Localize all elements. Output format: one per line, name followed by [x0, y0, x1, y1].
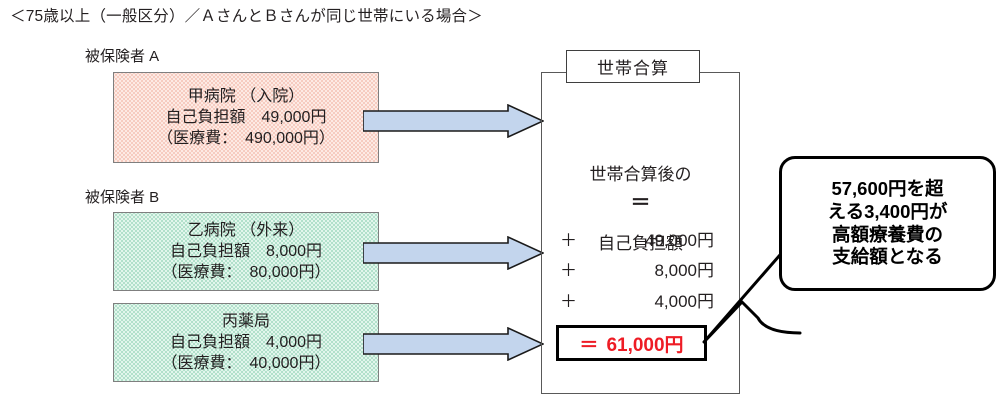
sum-amount-1: 49,000円 — [594, 226, 714, 251]
household-total-box: ＝ 61,000円 — [556, 325, 707, 361]
household-aggregate-tab: 世帯合算 — [566, 50, 700, 83]
callout-line-2: える3,400円が — [828, 201, 948, 224]
flow-arrow-1 — [363, 104, 544, 138]
provider-name-otsu: 乙病院 （外来） — [188, 220, 304, 241]
provider-selfpay-hei: 自己負担額 4,000円 — [170, 332, 322, 353]
provider-selfpay-otsu: 自己負担額 8,000円 — [170, 241, 322, 262]
household-heading-line1: 世帯合算後の — [541, 164, 740, 187]
callout-balloon: 57,600円を超 える3,400円が 高額療養費の 支給額となる — [779, 156, 996, 291]
insured-a-label: 被保険者 A — [85, 45, 159, 66]
total-amount: 61,000円 — [606, 330, 683, 357]
callout-line-3: 高額療養費の — [832, 224, 943, 247]
callout-line-4: 支給額となる — [832, 246, 942, 269]
sum-row-2: ＋ 8,000円 — [560, 256, 720, 281]
provider-name-hei: 丙薬局 — [222, 311, 270, 332]
provider-medicalcost-otsu: （医療費： 80,000円） — [162, 262, 331, 283]
flow-arrow-2 — [363, 236, 544, 270]
household-equals-sign: ＝ — [541, 186, 740, 215]
total-operator: ＝ — [579, 330, 598, 357]
provider-medicalcost-kou: （医療費： 490,000円） — [157, 128, 335, 149]
provider-box-otsu-hospital: 乙病院 （外来） 自己負担額 8,000円 （医療費： 80,000円） — [113, 212, 379, 291]
diagram-canvas: ＜75歳以上（一般区分）／ＡさんとＢさんが同じ世帯にいる場合＞ 被保険者 A 甲… — [0, 0, 1007, 408]
provider-name-kou: 甲病院 （入院） — [188, 86, 304, 107]
sum-amount-2: 8,000円 — [594, 256, 714, 281]
page-title: ＜75歳以上（一般区分）／ＡさんとＢさんが同じ世帯にいる場合＞ — [10, 4, 483, 26]
flow-arrow-3 — [363, 327, 544, 361]
sum-operator-1: ＋ — [560, 226, 594, 251]
provider-box-kou-hospital: 甲病院 （入院） 自己負担額 49,000円 （医療費： 490,000円） — [113, 72, 379, 163]
provider-box-hei-pharmacy: 丙薬局 自己負担額 4,000円 （医療費： 40,000円） — [113, 303, 379, 382]
provider-selfpay-kou: 自己負担額 49,000円 — [166, 107, 327, 128]
callout-line-1: 57,600円を超 — [831, 178, 943, 201]
sum-operator-3: ＋ — [560, 287, 594, 312]
sum-row-1: ＋ 49,000円 — [560, 226, 720, 251]
sum-row-3: ＋ 4,000円 — [560, 287, 720, 312]
sum-operator-2: ＋ — [560, 256, 594, 281]
provider-medicalcost-hei: （医療費： 40,000円） — [162, 353, 331, 374]
sum-amount-3: 4,000円 — [594, 287, 714, 312]
insured-b-label: 被保険者 B — [85, 186, 159, 207]
